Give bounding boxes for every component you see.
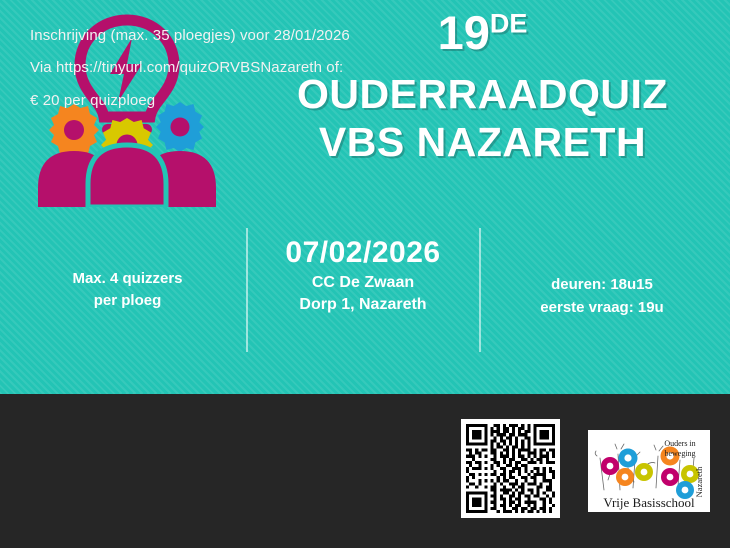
event-venue: CC De Zwaan [250,272,476,294]
page-title-line-2: VBS NAZARETH [245,119,720,167]
info-date-location: 07/02/2026 CC De Zwaan Dorp 1, Nazareth [250,234,476,316]
event-address: Dorp 1, Nazareth [250,294,476,316]
price-line: € 20 per quizploeg [30,85,450,117]
info-row: Max. 4 quizzers per ploeg 07/02/2026 CC … [0,226,730,354]
qr-code-icon[interactable] [461,419,560,518]
info-times: deuren: 18u15 eerste vraag: 19u [484,274,720,319]
logo-tagline-line-2: beweging [664,449,695,458]
team-size-line-1: Max. 4 quizzers [20,268,235,290]
team-size-line-2: per ploeg [20,290,235,312]
first-question-time: eerste vraag: 19u [484,297,720,320]
registration-url-line[interactable]: Via https://tinyurl.com/quizORVBSNazaret… [30,52,450,84]
school-logo: Ouders in beweging Nazareth Vrije Basiss… [588,430,710,512]
info-team-size: Max. 4 quizzers per ploeg [20,268,235,312]
footer-text: Inschrijving (max. 35 ploegjes) voor 28/… [30,20,450,117]
edition-suffix: DE [490,8,528,38]
event-date: 07/02/2026 [250,234,476,272]
info-divider-right [479,228,481,352]
quiz-poster: 19DE OUDERRAADQUIZ VBS NAZARETH Max. 4 q… [0,0,730,548]
doors-time: deuren: 18u15 [484,274,720,297]
logo-tagline-line-1: Ouders in [664,439,695,448]
people-group-icon [38,145,216,207]
registration-line: Inschrijving (max. 35 ploegjes) voor 28/… [30,20,450,52]
logo-vertical-text: Nazareth [694,466,704,497]
logo-school-name: Vrije Basisschool [603,495,695,510]
info-divider-left [246,228,248,352]
